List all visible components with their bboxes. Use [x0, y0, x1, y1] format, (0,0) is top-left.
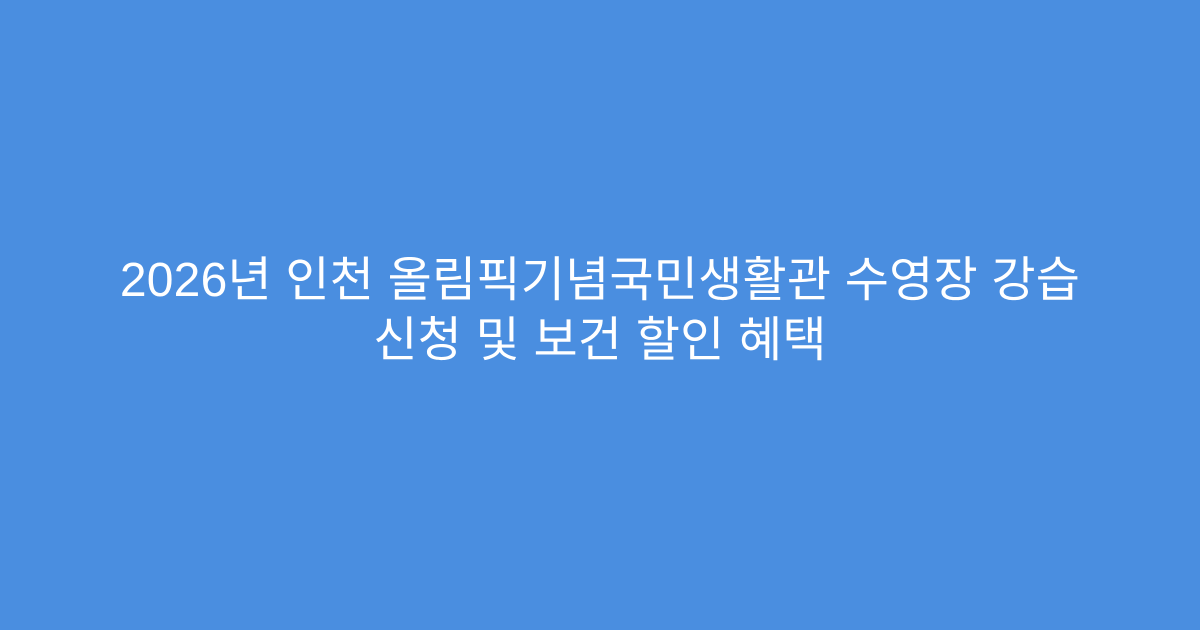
title-line-1: 2026년 인천 올림픽기념국민생활관 수영장 강습 — [74, 251, 1126, 311]
page-title: 2026년 인천 올림픽기념국민생활관 수영장 강습 신청 및 보건 할인 혜택 — [50, 251, 1150, 371]
og-card: 2026년 인천 올림픽기념국민생활관 수영장 강습 신청 및 보건 할인 혜택 — [0, 0, 1200, 630]
title-line-2: 신청 및 보건 할인 혜택 — [74, 311, 1126, 371]
